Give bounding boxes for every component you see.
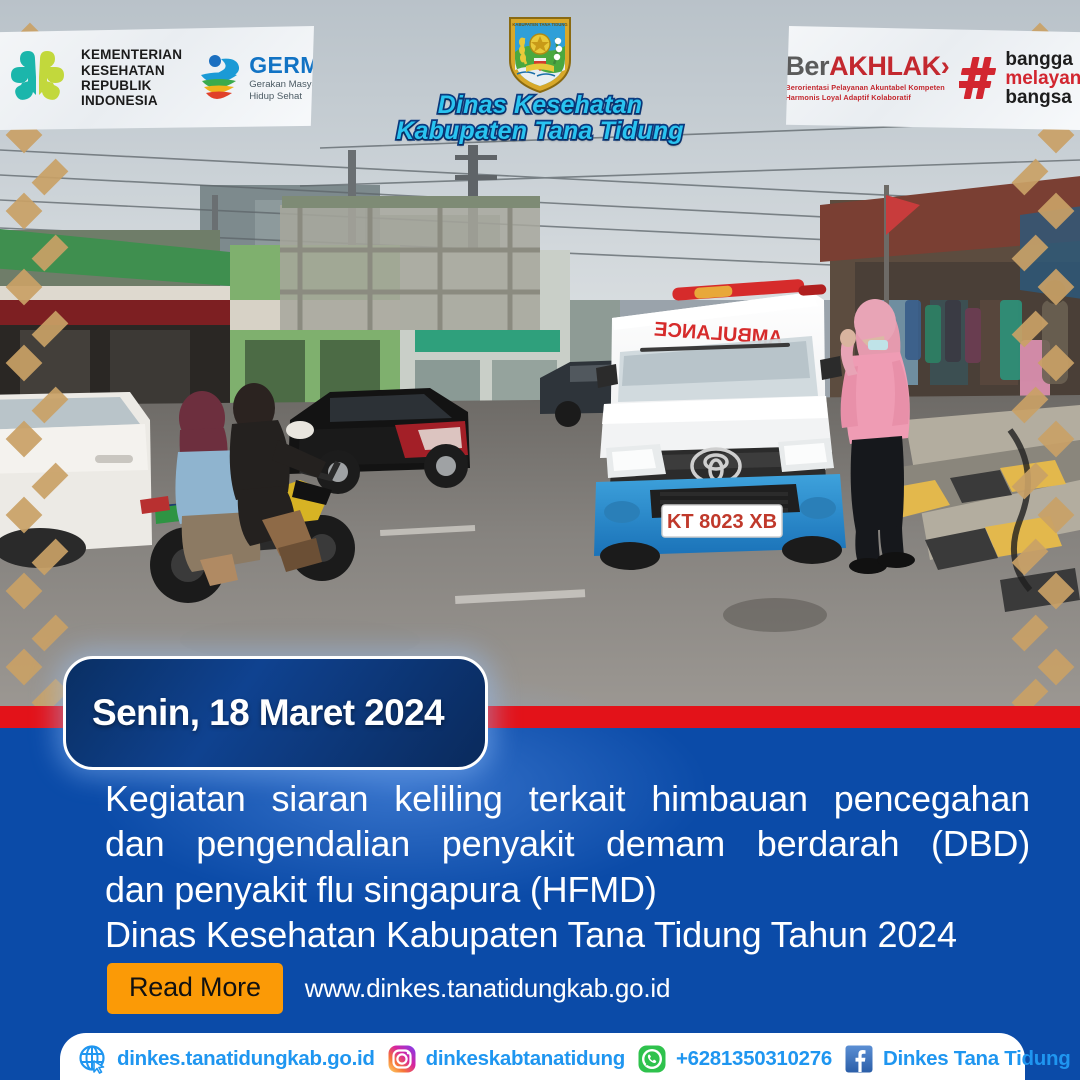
date-badge-text: Senin, 18 Maret 2024: [66, 692, 444, 734]
poster-root: AMBULANCE: [0, 0, 1080, 1080]
berakhlak-wordmark: BerAKHLAK›: [785, 53, 949, 80]
facebook-icon: [844, 1044, 874, 1074]
footer-whatsapp-label: +6281350310276: [676, 1047, 832, 1071]
dinas-title: Dinas Kesehatan Kabupaten Tana Tidung: [390, 92, 690, 144]
tana-tidung-regency-emblem: KABUPATEN TANA TIDUNG: [504, 14, 576, 94]
instagram-icon: [387, 1044, 417, 1074]
footer-item-instagram[interactable]: dinkeskabtanatidung: [387, 1044, 625, 1074]
footer-item-website[interactable]: dinkes.tanatidungkab.go.id: [78, 1044, 375, 1074]
cta-row: Read More www.dinkes.tanatidungkab.go.id: [107, 963, 670, 1014]
social-footer-bar: dinkes.tanatidungkab.go.id di: [60, 1033, 1025, 1080]
header-ribbon-left: KEMENTERIAN KESEHATAN REPUBLIK INDONESIA: [0, 26, 314, 130]
dinas-title-line2: Kabupaten Tana Tidung: [390, 118, 690, 144]
footer-facebook-label: Dinkes Tana Tidung: [883, 1047, 1070, 1071]
date-badge: Senin, 18 Maret 2024: [63, 656, 488, 770]
announcement-text: Kegiatan siaran keliling terkait himbaua…: [105, 776, 1030, 957]
footer-item-whatsapp[interactable]: +6281350310276: [637, 1044, 832, 1074]
svg-text:KT 8023 XB: KT 8023 XB: [667, 511, 777, 533]
website-url-text: www.dinkes.tanatidungkab.go.id: [305, 973, 670, 1004]
kemenkes-line4: INDONESIA: [81, 93, 182, 108]
kemenkes-line3: REPUBLIK: [81, 78, 182, 93]
kemenkes-line2: KESEHATAN: [81, 63, 182, 78]
berakhlak-sub-line2: Harmonis Loyal Adaptif Kolaboratif: [785, 93, 949, 103]
berakhlak-logo-block: BerAKHLAK› Berorientasi Pelayanan Akunta…: [785, 50, 1080, 107]
bangga-line1: bangga: [1005, 50, 1080, 69]
kemenkes-clover-logo: [8, 49, 68, 107]
kemenkes-wordmark: KEMENTERIAN KESEHATAN REPUBLIK INDONESIA: [81, 47, 182, 109]
announcement-line3: dan penyakit flu singapura (HFMD): [105, 867, 1030, 912]
announcement-line4: Dinas Kesehatan Kabupaten Tana Tidung Ta…: [105, 912, 1030, 957]
center-identity-block: KABUPATEN TANA TIDUNG Dinas Kesehatan Ka…: [390, 14, 690, 144]
footer-item-facebook[interactable]: Dinkes Tana Tidung: [844, 1044, 1070, 1074]
header-ribbon-right: BerAKHLAK› Berorientasi Pelayanan Akunta…: [786, 26, 1080, 130]
dinas-title-line1: Dinas Kesehatan: [390, 92, 690, 118]
germas-figure-logo: [195, 53, 243, 103]
berakhlak-sub-line1: Berorientasi Pelayanan Akuntabel Kompete…: [785, 83, 949, 93]
hashtag-icon: [959, 55, 1001, 101]
berakhlak-ber: Ber: [785, 51, 829, 81]
bangga-line3: bangsa: [1005, 88, 1080, 107]
footer-instagram-label: dinkeskabtanatidung: [426, 1047, 625, 1071]
kemenkes-line1: KEMENTERIAN: [81, 47, 182, 62]
svg-text:KABUPATEN TANA TIDUNG: KABUPATEN TANA TIDUNG: [512, 22, 567, 27]
whatsapp-icon: [637, 1044, 667, 1074]
read-more-button[interactable]: Read More: [107, 963, 283, 1014]
berakhlak-akhlak: AKHLAK: [829, 51, 941, 81]
announcement-line2: dan pengendalian penyakit demam berdarah…: [105, 821, 1030, 866]
footer-website-label: dinkes.tanatidungkab.go.id: [117, 1047, 375, 1071]
announcement-line1: Kegiatan siaran keliling terkait himbaua…: [105, 776, 1030, 821]
globe-icon: [78, 1044, 108, 1074]
bangga-line2: melayani: [1005, 69, 1080, 88]
